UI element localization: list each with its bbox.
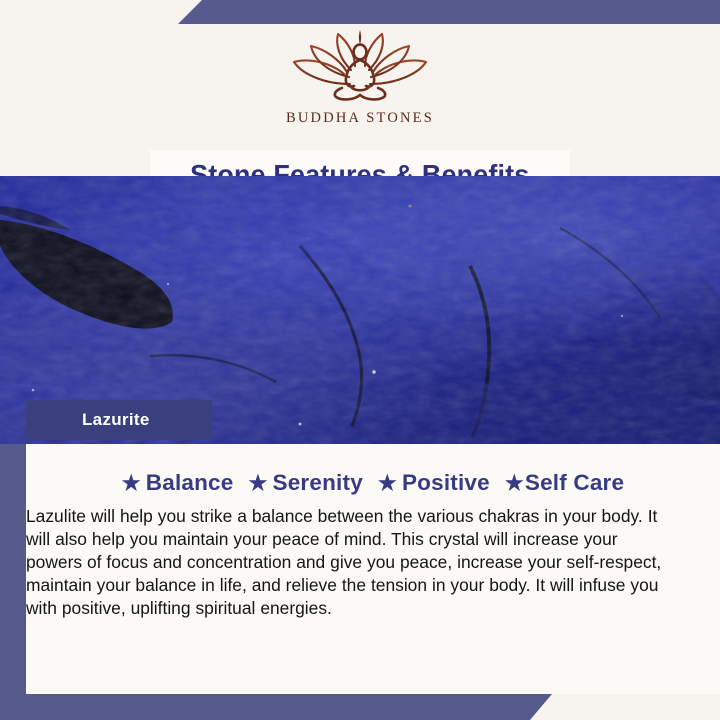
- decor-band-bottom: [0, 694, 720, 720]
- benefit-item-balance: ★ Balance: [122, 470, 234, 496]
- star-icon: ★: [378, 473, 397, 494]
- lotus-meditation-icon: [280, 28, 440, 106]
- infographic-card: BUDDHA STONES Stone Features & Benefits: [0, 0, 720, 720]
- decor-band-left: [0, 438, 26, 720]
- benefits-row: ★ Balance ★ Serenity ★ Positive ★ Self C…: [26, 470, 720, 496]
- stone-description: Lazulite will help you strike a balance …: [26, 505, 688, 620]
- benefit-item-serenity: ★ Serenity: [248, 470, 362, 496]
- benefit-item-self-care: ★ Self Care: [505, 470, 624, 496]
- stone-name-banner: Lazurite: [26, 400, 212, 440]
- decor-band-top: [0, 0, 720, 24]
- brand-logo: BUDDHA STONES: [0, 28, 720, 127]
- brand-name: BUDDHA STONES: [286, 110, 434, 127]
- star-icon: ★: [248, 473, 267, 494]
- star-icon: ★: [505, 473, 524, 494]
- star-icon: ★: [122, 473, 141, 494]
- benefit-label: Positive: [402, 470, 490, 496]
- benefit-label: Self Care: [525, 470, 624, 496]
- benefit-label: Balance: [146, 470, 234, 496]
- benefit-label: Serenity: [273, 470, 363, 496]
- card-header: BUDDHA STONES Stone Features & Benefits: [0, 24, 720, 176]
- benefit-item-positive: ★ Positive: [378, 470, 490, 496]
- content-panel: ★ Balance ★ Serenity ★ Positive ★ Self C…: [26, 444, 720, 694]
- stone-name: Lazurite: [82, 410, 150, 430]
